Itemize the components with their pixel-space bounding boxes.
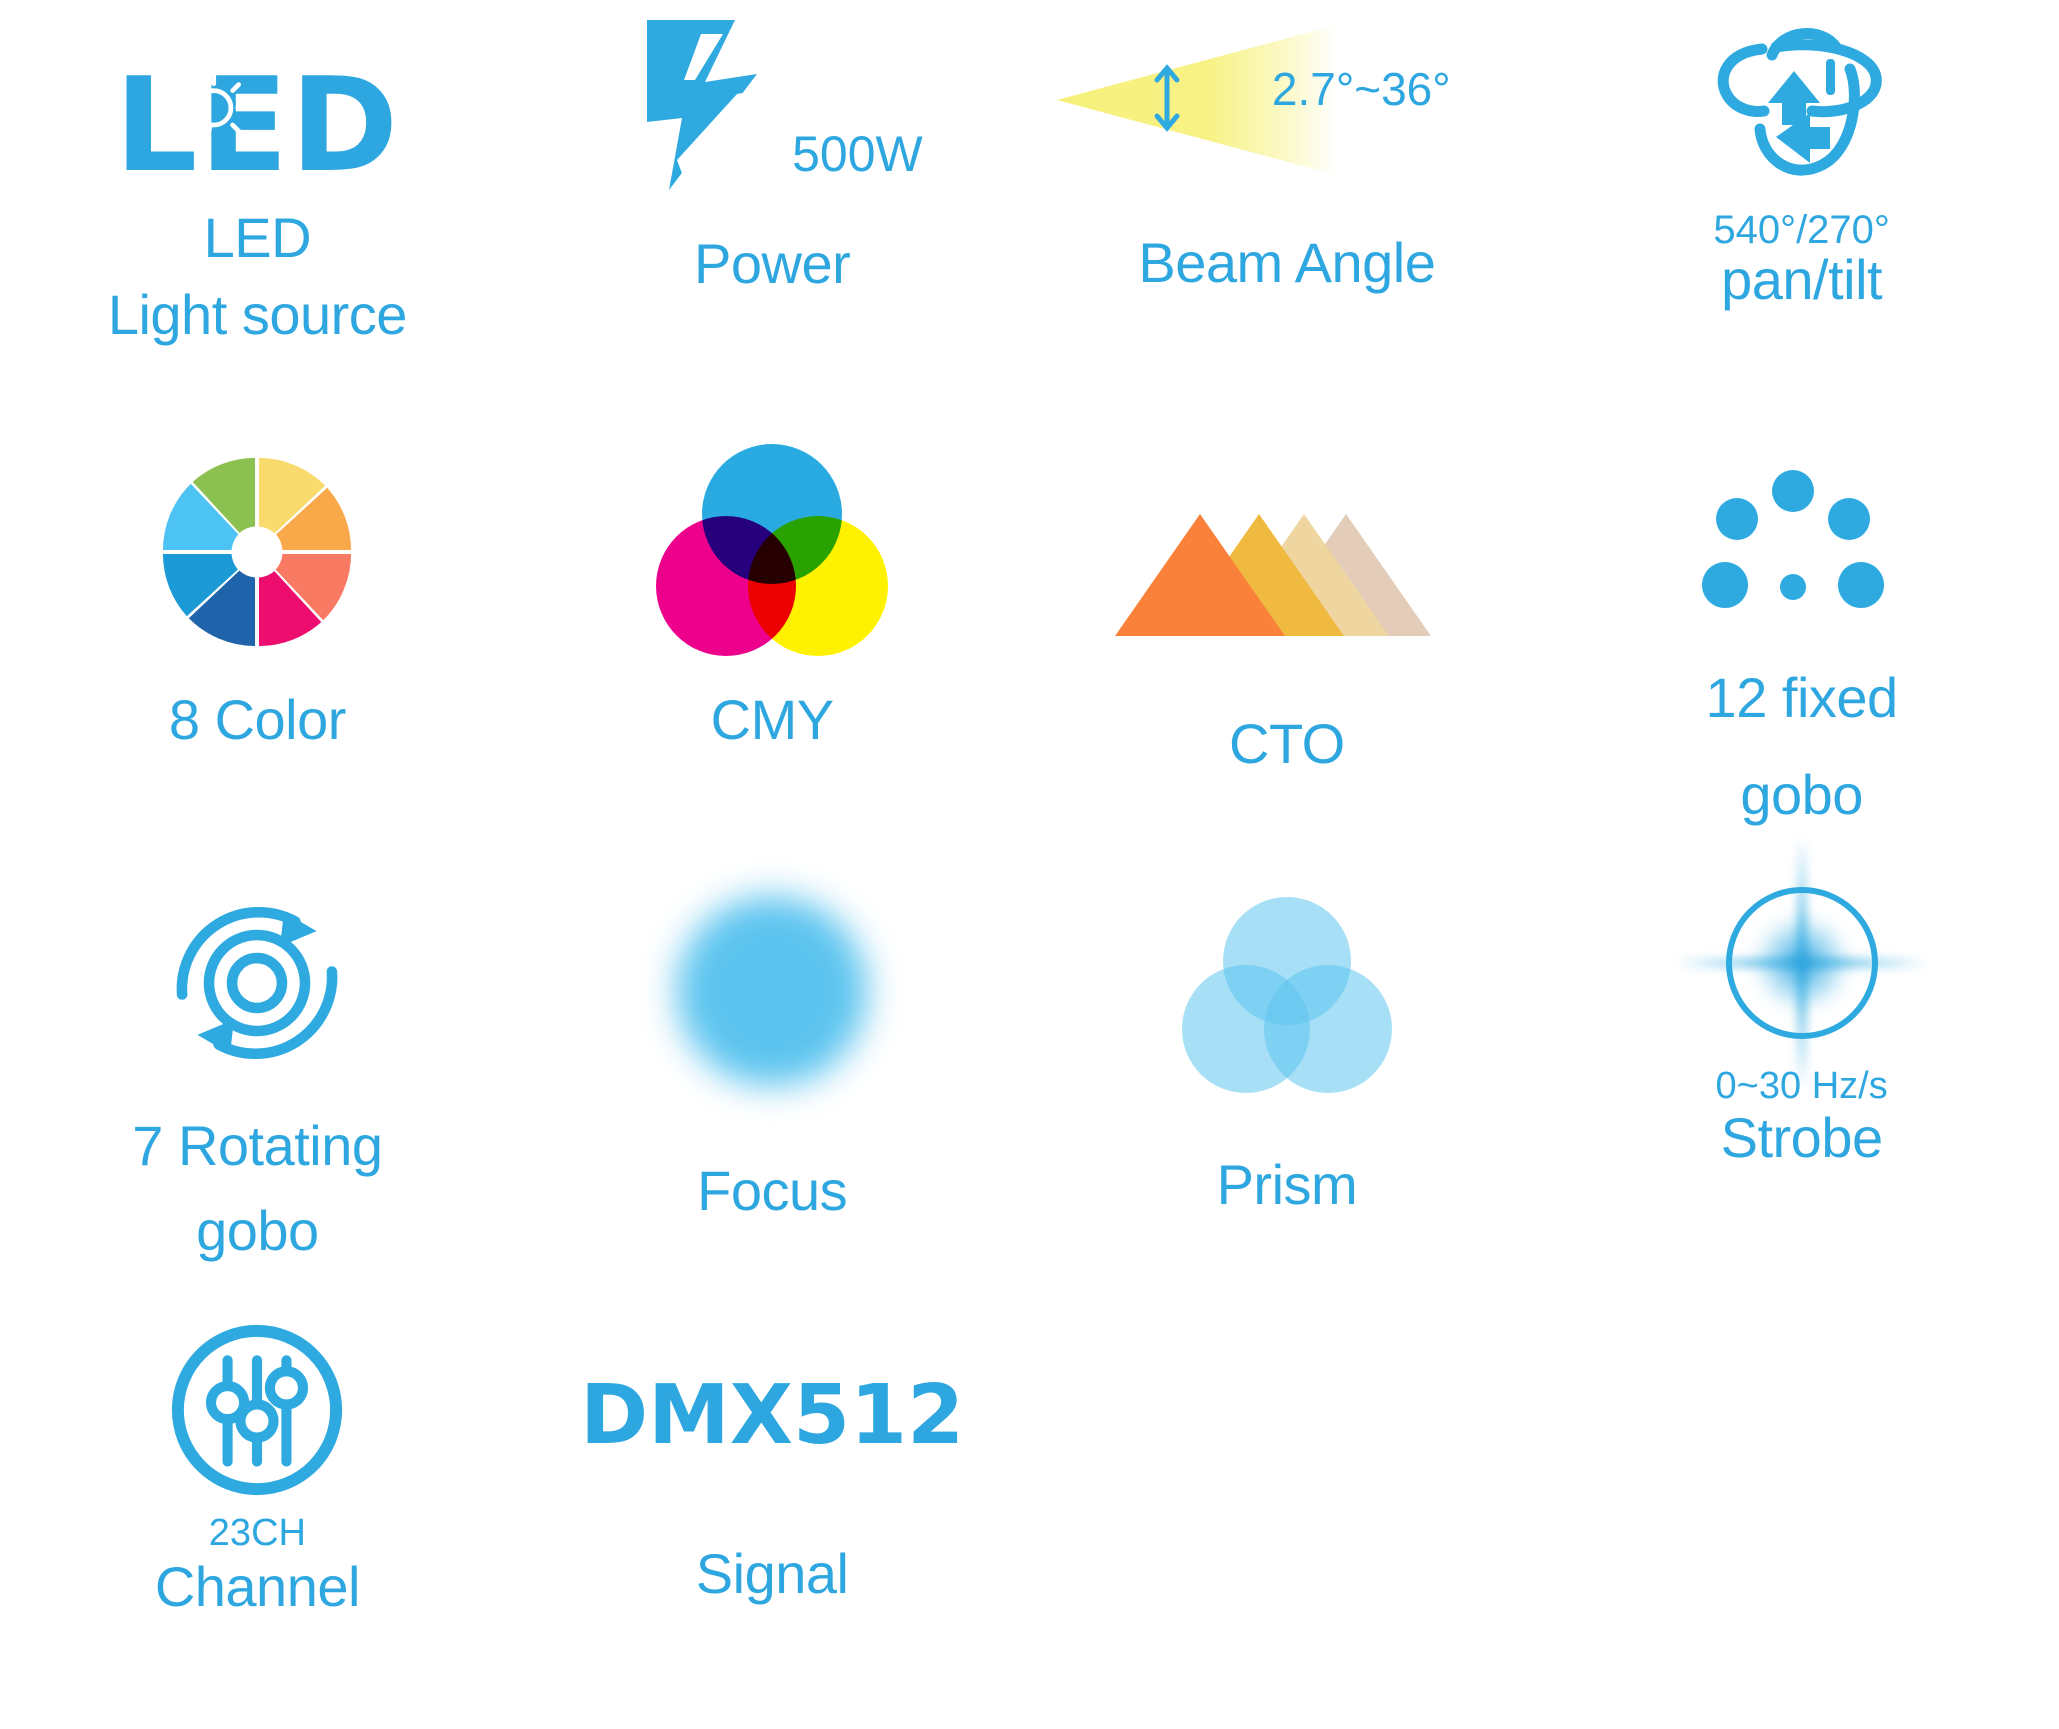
spec-icon-grid: LED LED Light source 500W Powe: [0, 0, 2059, 1729]
light-source-label-1: LED: [204, 208, 311, 267]
spec-item-cto: CTO: [1030, 430, 1545, 860]
focus-icon-area: [515, 860, 1030, 1105]
strobe-flare-icon: [1672, 873, 1932, 1053]
prism-circles-icon: [1182, 897, 1392, 1093]
signal-icon-area: DMX512: [515, 1300, 1030, 1500]
light-source-label-2: Light source: [108, 285, 407, 344]
rotating-gobo-label-2: gobo: [196, 1201, 319, 1260]
prism-label: Prism: [1217, 1155, 1358, 1214]
prism-circle-bottom-right: [1264, 965, 1392, 1093]
led-logo-area: LED: [0, 0, 515, 190]
color-wheel-icon: [159, 454, 355, 650]
rotating-gobo-label-1: 7 Rotating: [132, 1116, 382, 1175]
spec-item-strobe: 0~30 Hz/s Strobe: [1544, 860, 2059, 1300]
gobo-dot: [1702, 562, 1748, 608]
fixed-gobo-label-2: gobo: [1740, 765, 1863, 824]
strobe-label: Strobe: [1721, 1108, 1883, 1167]
channel-icon-area: [0, 1300, 515, 1505]
channel-value: 23CH: [209, 1513, 306, 1555]
power-label: Power: [694, 234, 850, 293]
gobo-dots-icon: [1702, 470, 1902, 610]
focus-label: Focus: [697, 1161, 847, 1220]
rotating-gobo-icon-area: [0, 860, 515, 1090]
blurred-circle-icon: [677, 896, 867, 1086]
spec-item-power: 500W Power: [515, 0, 1030, 430]
cmy-venn-icon: [656, 444, 888, 656]
color-wheel-label: 8 Color: [169, 690, 346, 749]
cto-label: CTO: [1229, 714, 1345, 773]
strobe-flare-core: [1754, 915, 1850, 1011]
sliders-circle-icon: [165, 1318, 349, 1502]
strobe-ring: [1726, 887, 1878, 1039]
spec-item-channel: 23CH Channel: [0, 1300, 515, 1729]
spec-item-prism: Prism: [1030, 860, 1545, 1300]
cto-triangles-icon: [1114, 510, 1459, 642]
led-wordmark: LED: [115, 60, 401, 190]
led-wordmark-text: LED: [115, 49, 401, 201]
prism-icon-area: [1030, 860, 1545, 1105]
fixed-gobo-label-1: 12 fixed: [1706, 668, 1898, 727]
gobo-dot-center: [1780, 574, 1806, 600]
beam-angle-value: 2.7°~36°: [1272, 62, 1451, 116]
pan-tilt-rotation-icon: [1704, 9, 1900, 199]
cmy-icon-area: [515, 430, 1030, 660]
spec-item-beam-angle: 2.7°~36° Beam Angle: [1030, 0, 1545, 430]
pan-tilt-icon-area: [1544, 0, 2059, 200]
gobo-dot: [1838, 562, 1884, 608]
spec-item-signal: DMX512 Signal: [515, 1300, 1030, 1729]
grid-empty-cell: [1544, 1300, 2059, 1729]
spec-item-pan-tilt: 540°/270° pan/tilt: [1544, 0, 2059, 430]
strobe-icon-area: [1544, 860, 2059, 1060]
channel-label: Channel: [155, 1557, 360, 1616]
grid-empty-cell: [1030, 1300, 1545, 1729]
gobo-dot: [1828, 498, 1870, 540]
power-icon-area: 500W: [607, 0, 937, 200]
color-wheel-icon-area: [0, 430, 515, 660]
fixed-gobo-icon-area: [1544, 430, 2059, 630]
rotating-gobo-icon: [161, 887, 353, 1079]
power-value: 500W: [792, 125, 923, 183]
spec-item-fixed-gobo: 12 fixed gobo: [1544, 430, 2059, 860]
cto-icon-area: [1030, 430, 1545, 660]
beam-height-arrow-icon: [1147, 62, 1187, 134]
spec-item-focus: Focus: [515, 860, 1030, 1300]
spec-item-cmy: CMY: [515, 430, 1030, 860]
gobo-dot: [1772, 470, 1814, 512]
dmx-text-icon: DMX512: [580, 1368, 964, 1463]
beam-angle-label: Beam Angle: [1138, 233, 1435, 292]
gobo-dot: [1716, 498, 1758, 540]
beam-angle-icon-area: 2.7°~36°: [1057, 0, 1517, 205]
spec-item-color-wheel: 8 Color: [0, 430, 515, 860]
spec-item-light-source: LED LED Light source: [0, 0, 515, 430]
spec-item-rotating-gobo: 7 Rotating gobo: [0, 860, 515, 1300]
led-bulb-icon: [169, 70, 255, 156]
signal-label: Signal: [696, 1544, 849, 1603]
cmy-label: CMY: [711, 690, 834, 749]
pan-tilt-label: pan/tilt: [1721, 250, 1882, 309]
cmy-yellow-circle: [748, 516, 888, 656]
pan-tilt-value: 540°/270°: [1713, 208, 1890, 252]
